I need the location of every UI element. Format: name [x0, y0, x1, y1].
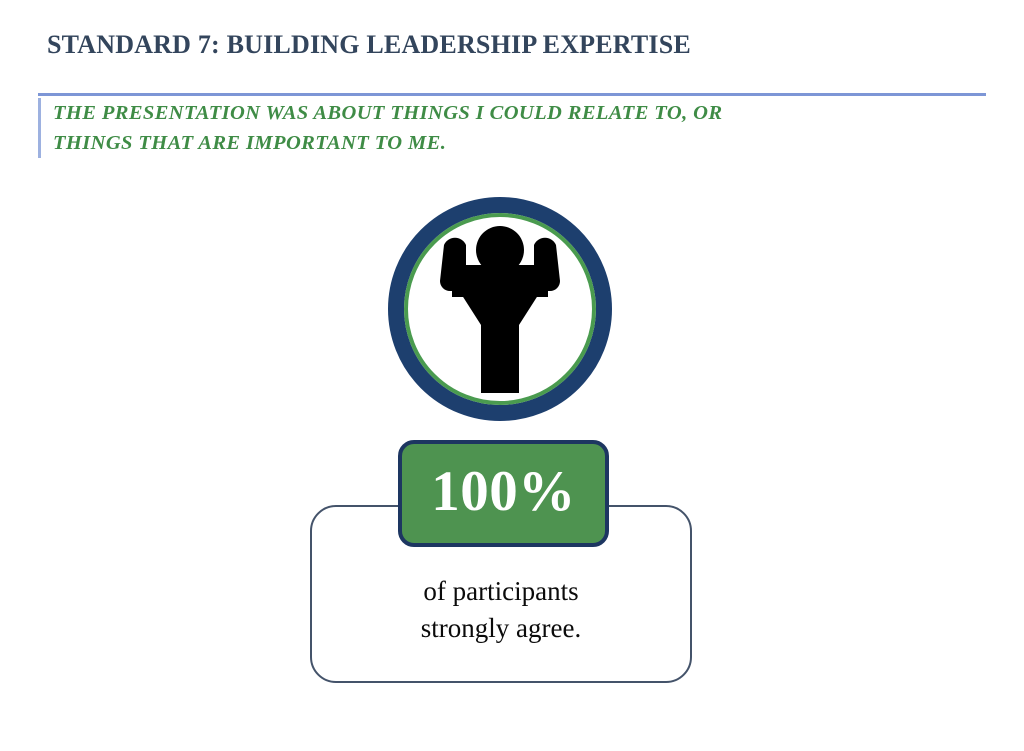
percentage-value: 100% — [431, 463, 576, 520]
subtitle-line-1: THE PRESENTATION WAS ABOUT THINGS I COUL… — [53, 98, 938, 128]
percentage-badge: 100% — [398, 440, 609, 547]
title-divider-rule — [38, 93, 986, 96]
strength-flexing-person-icon — [388, 197, 612, 421]
slide-canvas: STANDARD 7: BUILDING LEADERSHIP EXPERTIS… — [0, 0, 1024, 751]
page-title: STANDARD 7: BUILDING LEADERSHIP EXPERTIS… — [47, 30, 691, 60]
stat-caption-line-2: strongly agree. — [312, 610, 690, 647]
subtitle-line-2: THINGS THAT ARE IMPORTANT TO ME. — [53, 128, 938, 158]
stat-caption: of participants strongly agree. — [312, 573, 690, 647]
subtitle-block: THE PRESENTATION WAS ABOUT THINGS I COUL… — [38, 98, 938, 158]
stat-caption-line-1: of participants — [312, 573, 690, 610]
